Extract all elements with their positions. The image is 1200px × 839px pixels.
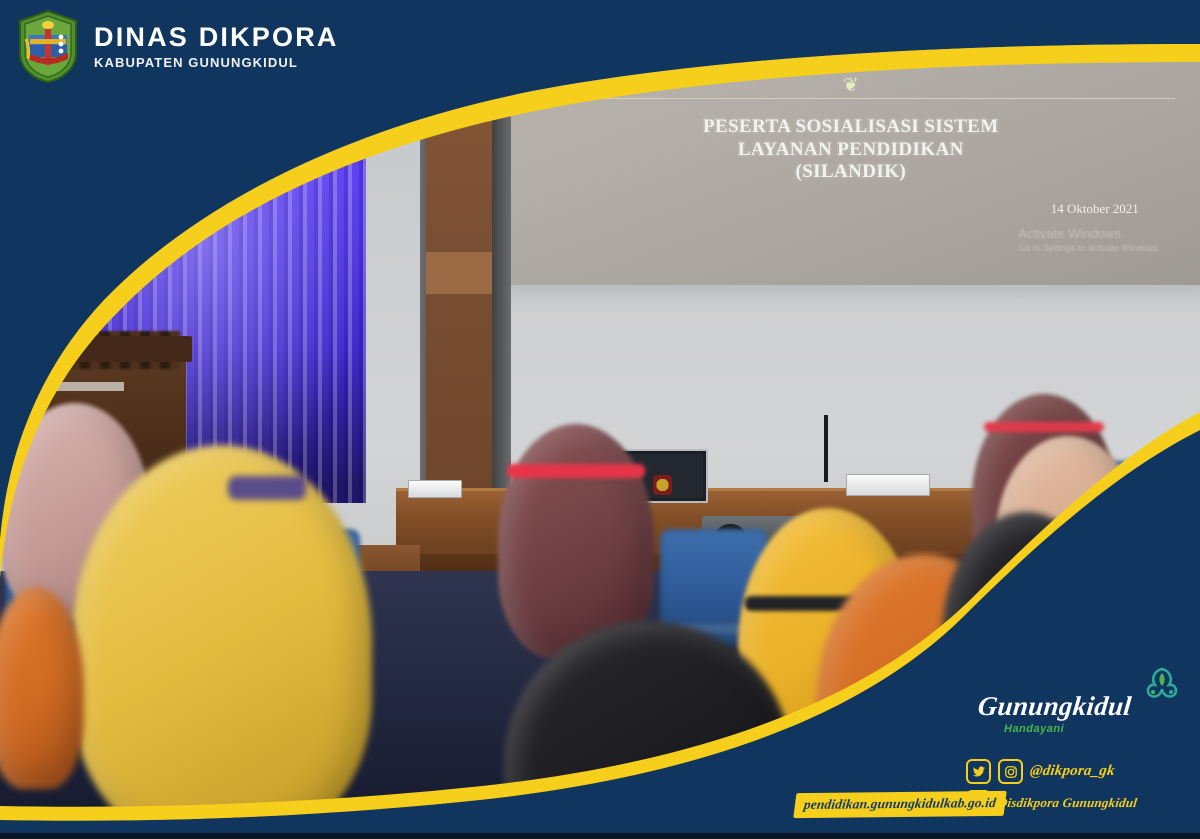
- nameplate-center: [846, 474, 930, 496]
- website-url-chip[interactable]: pendidikan.gunungkidulkab.go.id: [793, 791, 1006, 818]
- hijab-band: [507, 464, 644, 478]
- door-panel-detail: [426, 252, 492, 294]
- slide-divider: [584, 98, 1174, 99]
- gunungkidul-regency-crest-icon: [16, 9, 80, 83]
- slide-subtitle: PESERTA SOSIALISASI SISTEM LAYANAN PENDI…: [498, 116, 1200, 183]
- social-handle-facebook[interactable]: Disdikpora Gunungkidul: [997, 795, 1138, 811]
- poster-header: DINAS DIKPORA KABUPATEN GUNUNGKIDUL: [0, 0, 1200, 92]
- header-title: DINAS DIKPORA: [94, 24, 339, 51]
- header-subtitle: KABUPATEN GUNUNGKIDUL: [94, 56, 339, 69]
- laptop-screen-emblem: [653, 475, 672, 495]
- podium-nameplate: [52, 382, 124, 391]
- gunungkidul-brand-lockup: Gunungkidul Handayani: [978, 691, 1178, 735]
- slide-date: 14 Oktober 2021: [1051, 201, 1139, 217]
- podium-top: [0, 336, 192, 363]
- instagram-icon[interactable]: [998, 759, 1023, 784]
- brand-name: Gunungkidul: [976, 691, 1179, 722]
- watermark-line-1: Activate Windows: [1018, 225, 1160, 243]
- social-row-top: @dikpora_gk: [966, 759, 1186, 784]
- audience-member: [72, 445, 372, 839]
- slide-subtitle-line-2: LAYANAN PENDIDIKAN: [498, 139, 1200, 161]
- slide-subtitle-line-3: (SILANDIK): [498, 161, 1200, 183]
- brand-tagline: Handayani: [1004, 723, 1178, 735]
- nameplate-left: [408, 480, 462, 498]
- social-handle-instagram[interactable]: @dikpora_gk: [1029, 763, 1116, 780]
- slide-subtitle-line-1: PESERTA SOSIALISASI SISTEM: [498, 116, 1200, 138]
- windows-activation-watermark: Activate Windows Go to Settings to activ…: [1018, 225, 1160, 255]
- hijab-band: [984, 422, 1105, 432]
- watermark-line-2: Go to Settings to activate Windows.: [1018, 242, 1160, 254]
- poster-root: SELAMAT DATANG ❦ PESERTA SOSIALISASI SIS…: [0, 0, 1200, 839]
- microphone-stand: [824, 415, 828, 482]
- twitter-icon[interactable]: [966, 759, 991, 784]
- hijab-hairpin: [228, 476, 306, 500]
